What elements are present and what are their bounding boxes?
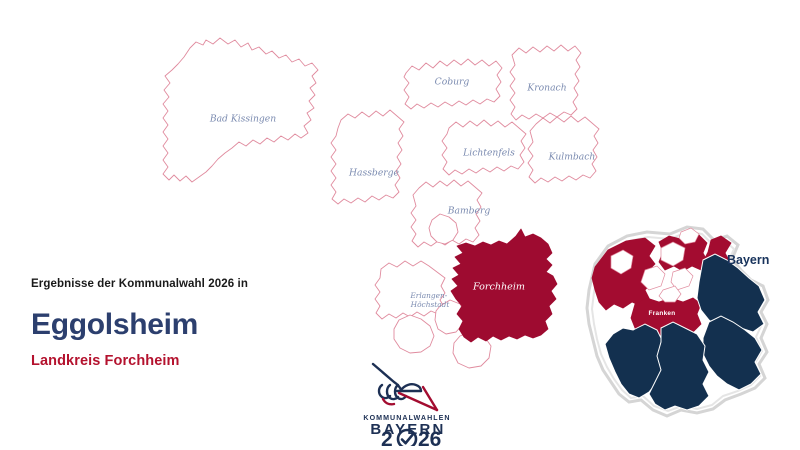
- label-bad-kissingen: Bad Kissingen: [209, 114, 276, 125]
- main-district-map[interactable]: Bad Kissingen Hassberge Coburg Kronach L…: [150, 18, 620, 408]
- label-hassberge: Hassberge: [348, 168, 400, 179]
- kommunalwahlen-bayern-2026-logo[interactable]: KOMMUNALWAHLEN BAYERN 2 26: [361, 358, 453, 446]
- label-forchheim: Forchheim: [472, 282, 525, 293]
- label-kulmbach: Kulmbach: [548, 152, 596, 163]
- district-shape-erlangen-hoechstadt[interactable]: [375, 261, 445, 319]
- label-bayern: Bayern: [727, 253, 769, 267]
- logo-year-suffix: 26: [418, 428, 441, 446]
- label-franken: Franken: [649, 310, 676, 317]
- label-kronach: Kronach: [526, 83, 566, 94]
- district-shape-hassberge[interactable]: [331, 110, 404, 204]
- label-coburg: Coburg: [435, 77, 470, 88]
- district-shape-south-a[interactable]: [394, 315, 434, 353]
- district-shape-bad-kissingen[interactable]: [163, 38, 318, 182]
- label-erlangen-hoechstadt: Erlangen- Höchstadt: [409, 291, 449, 309]
- screenshot-root: Ergebnisse der Kommunalwahl 2026 in Eggo…: [0, 0, 800, 450]
- pointing-hand-icon: [373, 364, 437, 410]
- label-lichtenfels: Lichtenfels: [462, 148, 515, 159]
- logo-year-prefix: 2: [381, 428, 393, 446]
- label-bamberg: Bamberg: [447, 206, 491, 217]
- district-shape-kulmbach[interactable]: [528, 116, 599, 183]
- bayern-inset-map[interactable]: Franken Bayern: [575, 212, 795, 432]
